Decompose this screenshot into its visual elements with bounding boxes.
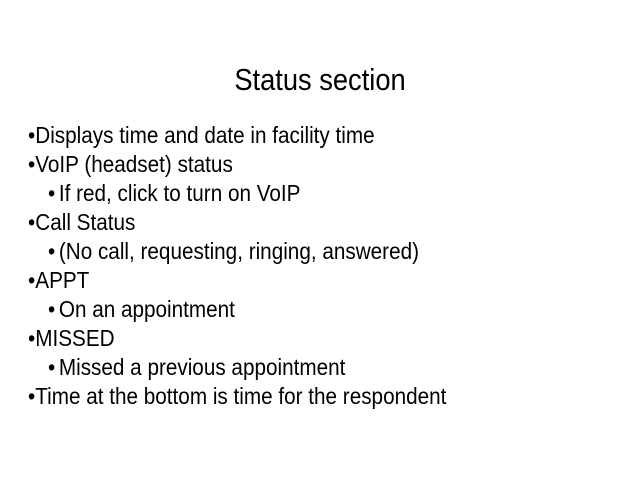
list-item: •Missed a previous appointment (48, 353, 570, 382)
list-item-label: Displays time and date in facility time (35, 122, 374, 148)
bullet-point-icon: • (48, 237, 55, 266)
list-item-label: VoIP (headset) status (35, 151, 233, 177)
list-item-label: If red, click to turn on VoIP (59, 180, 301, 206)
bullet-point-icon: • (28, 208, 35, 237)
list-item-label: On an appointment (59, 296, 235, 322)
list-item: •Call Status (28, 208, 568, 237)
list-item: •(No call, requesting, ringing, answered… (48, 237, 570, 266)
bullet-point-icon: • (28, 150, 35, 179)
list-item-label: Call Status (35, 209, 135, 235)
list-item: •If red, click to turn on VoIP (48, 179, 570, 208)
list-item-label: APPT (35, 267, 89, 293)
bullet-point-icon: • (48, 179, 55, 208)
list-item: •APPT (28, 266, 568, 295)
presentation-slide: Status section •Displays time and date i… (0, 0, 640, 480)
list-item: •VoIP (headset) status (28, 150, 568, 179)
list-item-label: Time at the bottom is time for the respo… (35, 383, 446, 409)
page-title: Status section (38, 61, 601, 99)
list-item: •On an appointment (48, 295, 570, 324)
bullet-point-icon: • (28, 266, 35, 295)
bullet-point-icon: • (28, 382, 35, 411)
bullet-point-icon: • (48, 353, 55, 382)
bullet-point-icon: • (28, 324, 35, 353)
list-item-label: (No call, requesting, ringing, answered) (59, 238, 419, 264)
list-item: •MISSED (28, 324, 568, 353)
bullet-point-icon: • (48, 295, 55, 324)
bullet-list: •Displays time and date in facility time… (28, 121, 628, 411)
list-item: •Displays time and date in facility time (28, 121, 568, 150)
list-item: •Time at the bottom is time for the resp… (28, 382, 568, 411)
list-item-label: Missed a previous appointment (59, 354, 346, 380)
bullet-point-icon: • (28, 121, 35, 150)
list-item-label: MISSED (35, 325, 114, 351)
